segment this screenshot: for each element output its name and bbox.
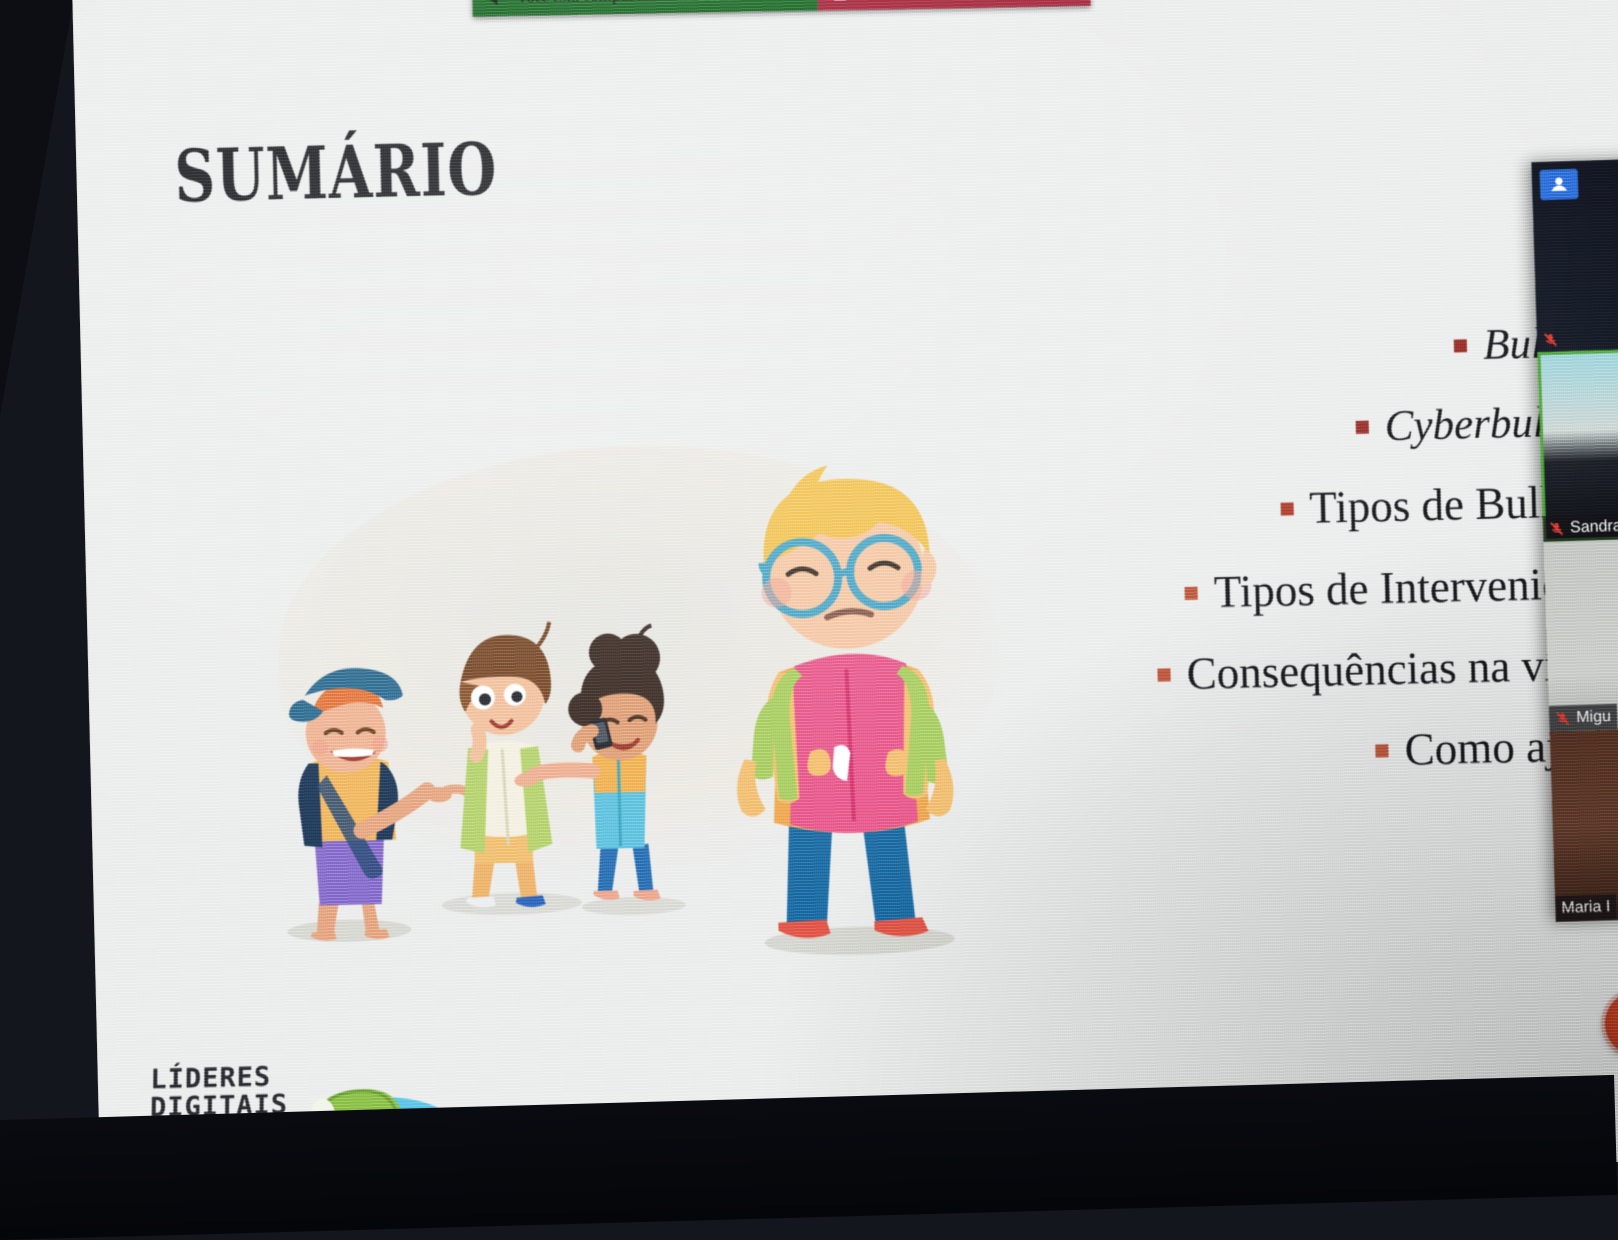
- participant-name-bar: [1537, 327, 1565, 352]
- participant-name: Sandra: [1570, 518, 1618, 538]
- list-item: Consequências na vítima: [896, 640, 1618, 705]
- video-tile[interactable]: Sandra: [1537, 347, 1618, 542]
- page-title: SUMÁRIO: [174, 126, 499, 219]
- list-item: Como ajudar: [898, 721, 1618, 786]
- sharing-status-text: Você está compartilhando a tela: [516, 0, 733, 8]
- mic-muted-icon: [1555, 710, 1571, 726]
- participant-name-bar: Maria I: [1555, 894, 1617, 922]
- monitor-screen: SUMÁRIO: [72, 0, 1618, 1198]
- bullet-square-icon: [1376, 744, 1389, 757]
- presentation-slide: SUMÁRIO: [72, 0, 1618, 1198]
- bullet-square-icon: [1356, 421, 1369, 434]
- mic-muted-icon: [1543, 332, 1559, 348]
- video-tile[interactable]: Maria I: [1550, 727, 1618, 922]
- video-tile[interactable]: P: [1531, 157, 1618, 352]
- participant-name: Maria I: [1561, 898, 1610, 918]
- list-item: Tipos de Intervenientes: [894, 559, 1618, 624]
- participant-name-bar: Migu: [1549, 704, 1617, 732]
- participant-name-bar: Sandra: [1543, 513, 1618, 542]
- bullet-square-icon: [1158, 668, 1171, 681]
- list-item: Tipos de Bullying: [892, 478, 1618, 543]
- list-item: Cyberbullying: [890, 399, 1618, 462]
- bullet-square-icon: [1280, 503, 1293, 516]
- stop-sharing-label: Interromper Compartilhamento: [856, 0, 1074, 2]
- back-arrow-icon[interactable]: [486, 0, 502, 7]
- monitor-photo: SUMÁRIO: [0, 0, 1618, 1240]
- bullet-square-icon: [1454, 339, 1467, 352]
- participant-name: Migu: [1576, 708, 1611, 727]
- bullet-square-icon: [1185, 586, 1198, 599]
- participant-badge-icon: [1540, 169, 1579, 200]
- video-tile[interactable]: Migu: [1544, 537, 1618, 732]
- list-item: Bullying: [889, 319, 1618, 382]
- slide-bullet-list: Bullying Cyberbullying Tipos de Bullying…: [889, 319, 1618, 820]
- mic-muted-icon: [1549, 520, 1565, 536]
